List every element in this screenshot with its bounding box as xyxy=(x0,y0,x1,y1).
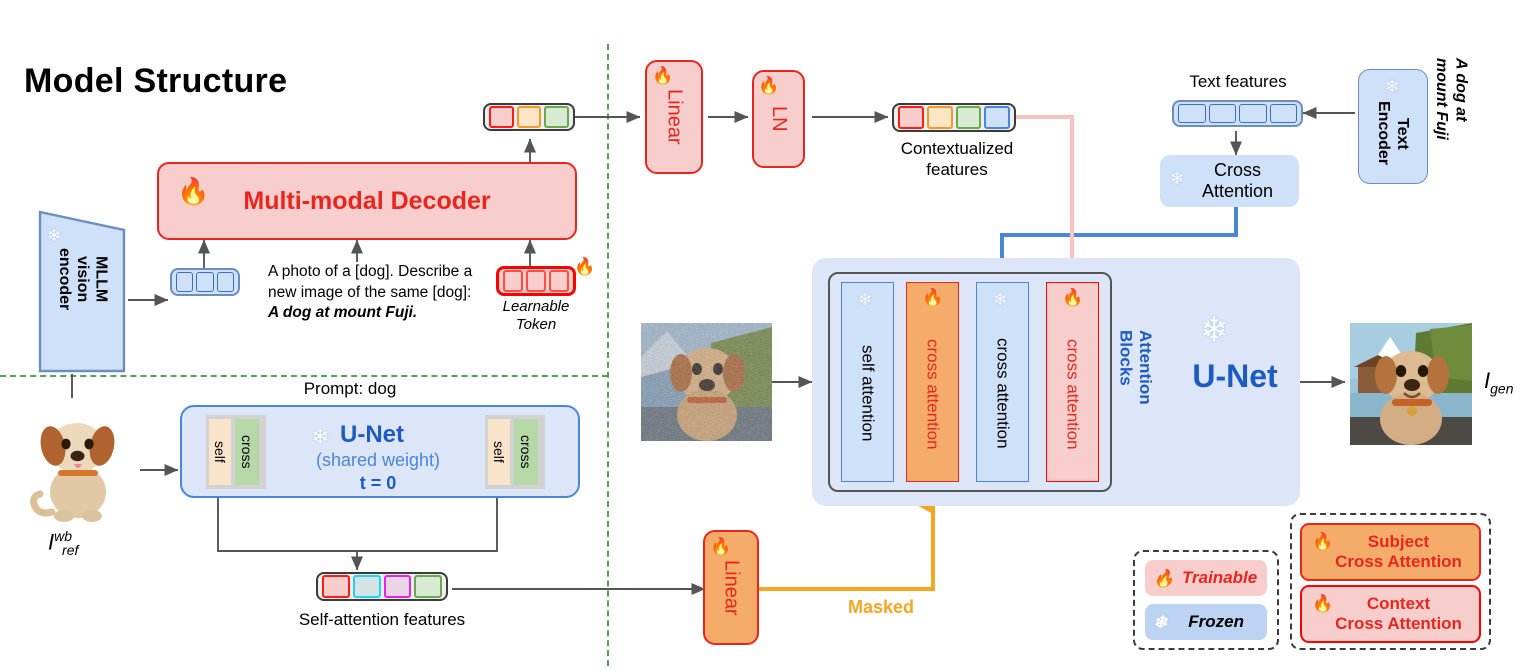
legend-context-line-1: Context xyxy=(1367,594,1430,613)
decoder-output-strip[interactable] xyxy=(483,103,575,131)
divider-horizontal-green xyxy=(0,375,608,377)
legend-frozen: ❄ Frozen xyxy=(1145,604,1267,640)
snowflake-icon: ❄ xyxy=(1200,313,1229,347)
text-cross-attn-line-1: Cross xyxy=(1214,160,1261,180)
linear-block-masked[interactable]: 🔥 Linear xyxy=(703,530,759,645)
reference-image-label: Iwbref xyxy=(48,528,78,558)
token-cell-magenta xyxy=(384,575,412,598)
snowflake-icon: ❄ xyxy=(858,291,872,308)
contextualized-features-caption: Contextualized features xyxy=(882,139,1032,180)
token-cell xyxy=(1270,104,1298,123)
snowflake-icon: ❄ xyxy=(1385,78,1399,95)
token-cell xyxy=(176,272,193,292)
token-cell-cyan xyxy=(353,575,381,598)
attention-column-subject-cross-attention[interactable]: 🔥 cross attention xyxy=(906,282,959,482)
token-cell-green xyxy=(956,106,982,129)
generated-image-render xyxy=(1350,323,1472,445)
ref-unet-self-attention-right[interactable]: self xyxy=(488,419,510,485)
snowflake-icon: ❄ xyxy=(311,426,329,448)
attention-column-label: cross attention xyxy=(1063,315,1083,450)
masked-label: Masked xyxy=(848,597,914,618)
ref-unet-cross-attention-right[interactable]: cross xyxy=(514,419,538,485)
divider-vertical-green xyxy=(607,44,609,666)
attention-column-label: cross attention xyxy=(993,316,1013,449)
attention-column-label: cross attention xyxy=(923,315,943,450)
legend-context-line-2: Cross Attention xyxy=(1335,614,1462,633)
text-input-prompt: A dog at mount Fuji xyxy=(1432,58,1512,168)
token-cell-green xyxy=(414,575,442,598)
multimodal-decoder-label: Multi-modal Decoder xyxy=(243,187,490,216)
fire-icon: 🔥 xyxy=(1312,595,1333,612)
legend-subject-line-2: Cross Attention xyxy=(1335,552,1462,571)
ln-block-label: LN xyxy=(767,106,790,132)
page-title: Model Structure xyxy=(24,62,287,101)
text-features-label: Text features xyxy=(1172,72,1304,92)
multimodal-decoder[interactable]: 🔥 Multi-modal Decoder xyxy=(157,162,577,240)
text-cross-attention-block[interactable]: ❄ Cross Attention xyxy=(1160,155,1299,207)
prompt-line-2: new image of the same [dog]: xyxy=(268,283,483,304)
attention-column-self-attention[interactable]: ❄ self attention xyxy=(841,282,894,482)
token-cell xyxy=(1178,104,1206,123)
contextualized-features-strip[interactable] xyxy=(892,103,1016,132)
text-input-line-1: A dog at xyxy=(1452,58,1469,121)
self-attention-features-strip[interactable] xyxy=(316,572,448,601)
prompt-line-1: A photo of a [dog]. Describe a xyxy=(268,262,483,283)
fire-icon: 🔥 xyxy=(652,67,673,84)
learnable-caption-2: Token xyxy=(490,316,582,334)
fire-icon: 🔥 xyxy=(1062,289,1083,306)
attention-column-context-frozen-cross-attention[interactable]: ❄ cross attention xyxy=(976,282,1029,482)
token-cell xyxy=(217,272,234,292)
text-encoder-line-2: Encoder xyxy=(1375,101,1392,165)
prompt-line-3: A dog at mount Fuji. xyxy=(268,303,483,324)
ref-unet-subtitle: (shared weight) xyxy=(288,450,468,471)
token-cell xyxy=(1239,104,1267,123)
reference-image-render xyxy=(22,404,132,522)
fire-icon: 🔥 xyxy=(710,538,731,555)
text-encoder-line-1: Text xyxy=(1394,118,1411,150)
attention-column-context-cross-attention[interactable]: 🔥 cross attention xyxy=(1046,282,1099,482)
fire-icon: 🔥 xyxy=(922,289,943,306)
text-features-strip[interactable] xyxy=(1172,100,1303,127)
reference-dog-image xyxy=(22,404,132,522)
encoder-line-2: vision xyxy=(74,256,91,302)
token-cell-red xyxy=(489,106,514,128)
ln-block[interactable]: 🔥 LN xyxy=(752,70,805,168)
attention-blocks-line-2: Blocks xyxy=(1117,330,1136,386)
fire-icon: 🔥 xyxy=(177,178,209,204)
noisy-image-render xyxy=(641,323,772,441)
fire-icon: 🔥 xyxy=(574,258,595,275)
ref-unet-title: U-Net xyxy=(340,421,404,449)
ref-self-label: self xyxy=(491,441,507,463)
attention-blocks-line-1: Attention xyxy=(1136,330,1155,405)
linear-block-top-label: Linear xyxy=(663,89,686,145)
snowflake-icon: ❄ xyxy=(993,291,1007,308)
token-cell-orange xyxy=(927,106,953,129)
gen-label-sub: gen xyxy=(1490,380,1513,396)
ref-unet-timestep: t = 0 xyxy=(288,473,468,494)
linear-block-top[interactable]: 🔥 Linear xyxy=(645,60,703,174)
ref-cross-label: cross xyxy=(239,435,255,468)
legend-subject-cross-attention: 🔥 Subject Cross Attention xyxy=(1300,523,1481,581)
encoder-line-1: MLLM xyxy=(93,256,110,302)
token-cell-green xyxy=(544,106,569,128)
encoder-line-3: encoder xyxy=(56,248,73,310)
snowflake-icon: ❄ xyxy=(1170,170,1184,187)
image-token-strip[interactable] xyxy=(170,268,240,296)
figure-canvas: Model Structure xyxy=(0,0,1530,671)
token-cell xyxy=(526,270,546,292)
ref-unet-self-attention-left[interactable]: self xyxy=(209,419,231,485)
token-cell xyxy=(196,272,213,292)
ref-cross-label: cross xyxy=(518,435,534,468)
generated-image-label: Igen xyxy=(1484,368,1513,396)
learnable-token-caption: Learnable Token xyxy=(490,298,582,333)
text-encoder[interactable]: ❄ Text Encoder xyxy=(1358,69,1428,184)
ref-unet-cross-attention-left[interactable]: cross xyxy=(235,419,259,485)
linear-block-masked-label: Linear xyxy=(720,560,743,616)
token-cell-blue xyxy=(984,106,1010,129)
noisy-latent-image xyxy=(641,323,772,441)
contextualized-caption-1: Contextualized xyxy=(882,139,1032,160)
legend-subject-line-1: Subject xyxy=(1368,532,1429,551)
token-cell-orange xyxy=(517,106,542,128)
contextualized-caption-2: features xyxy=(882,160,1032,181)
attention-blocks-label: Attention Blocks xyxy=(1116,330,1162,450)
legend-trainable-label: Trainable xyxy=(1180,568,1259,588)
token-cell-red xyxy=(898,106,924,129)
token-cell xyxy=(1209,104,1237,123)
text-input-line-2: mount Fuji xyxy=(1433,58,1450,140)
unet-main-title: U-Net xyxy=(1175,358,1295,395)
token-cell xyxy=(549,270,569,292)
legend-frozen-label: Frozen xyxy=(1173,612,1259,632)
fire-icon: 🔥 xyxy=(1153,570,1174,587)
token-cell-red xyxy=(322,575,350,598)
fire-icon: 🔥 xyxy=(1312,533,1333,550)
learnable-caption-1: Learnable xyxy=(490,298,582,316)
learnable-token-strip[interactable] xyxy=(496,266,576,296)
attention-column-label: self attention xyxy=(858,323,878,441)
generated-image xyxy=(1350,323,1472,445)
legend-trainable: 🔥 Trainable xyxy=(1145,560,1267,596)
prompt-text-block: A photo of a [dog]. Describe a new image… xyxy=(268,262,483,324)
fire-icon: 🔥 xyxy=(758,77,779,94)
snowflake-icon: ❄ xyxy=(1153,614,1167,631)
mllm-vision-encoder[interactable]: ❄ MLLM vision encoder xyxy=(36,208,128,375)
prompt-dog-label: Prompt: dog xyxy=(250,379,450,399)
snowflake-icon: ❄ xyxy=(47,227,61,244)
legend-context-cross-attention: 🔥 Context Cross Attention xyxy=(1300,585,1481,643)
mllm-vision-encoder-label: MLLM vision encoder xyxy=(36,248,128,368)
self-attention-features-caption: Self-attention features xyxy=(262,610,502,630)
ref-label-sub: ref xyxy=(62,542,78,558)
ref-self-label: self xyxy=(212,441,228,463)
token-cell xyxy=(503,270,523,292)
text-cross-attn-line-2: Attention xyxy=(1202,181,1273,201)
